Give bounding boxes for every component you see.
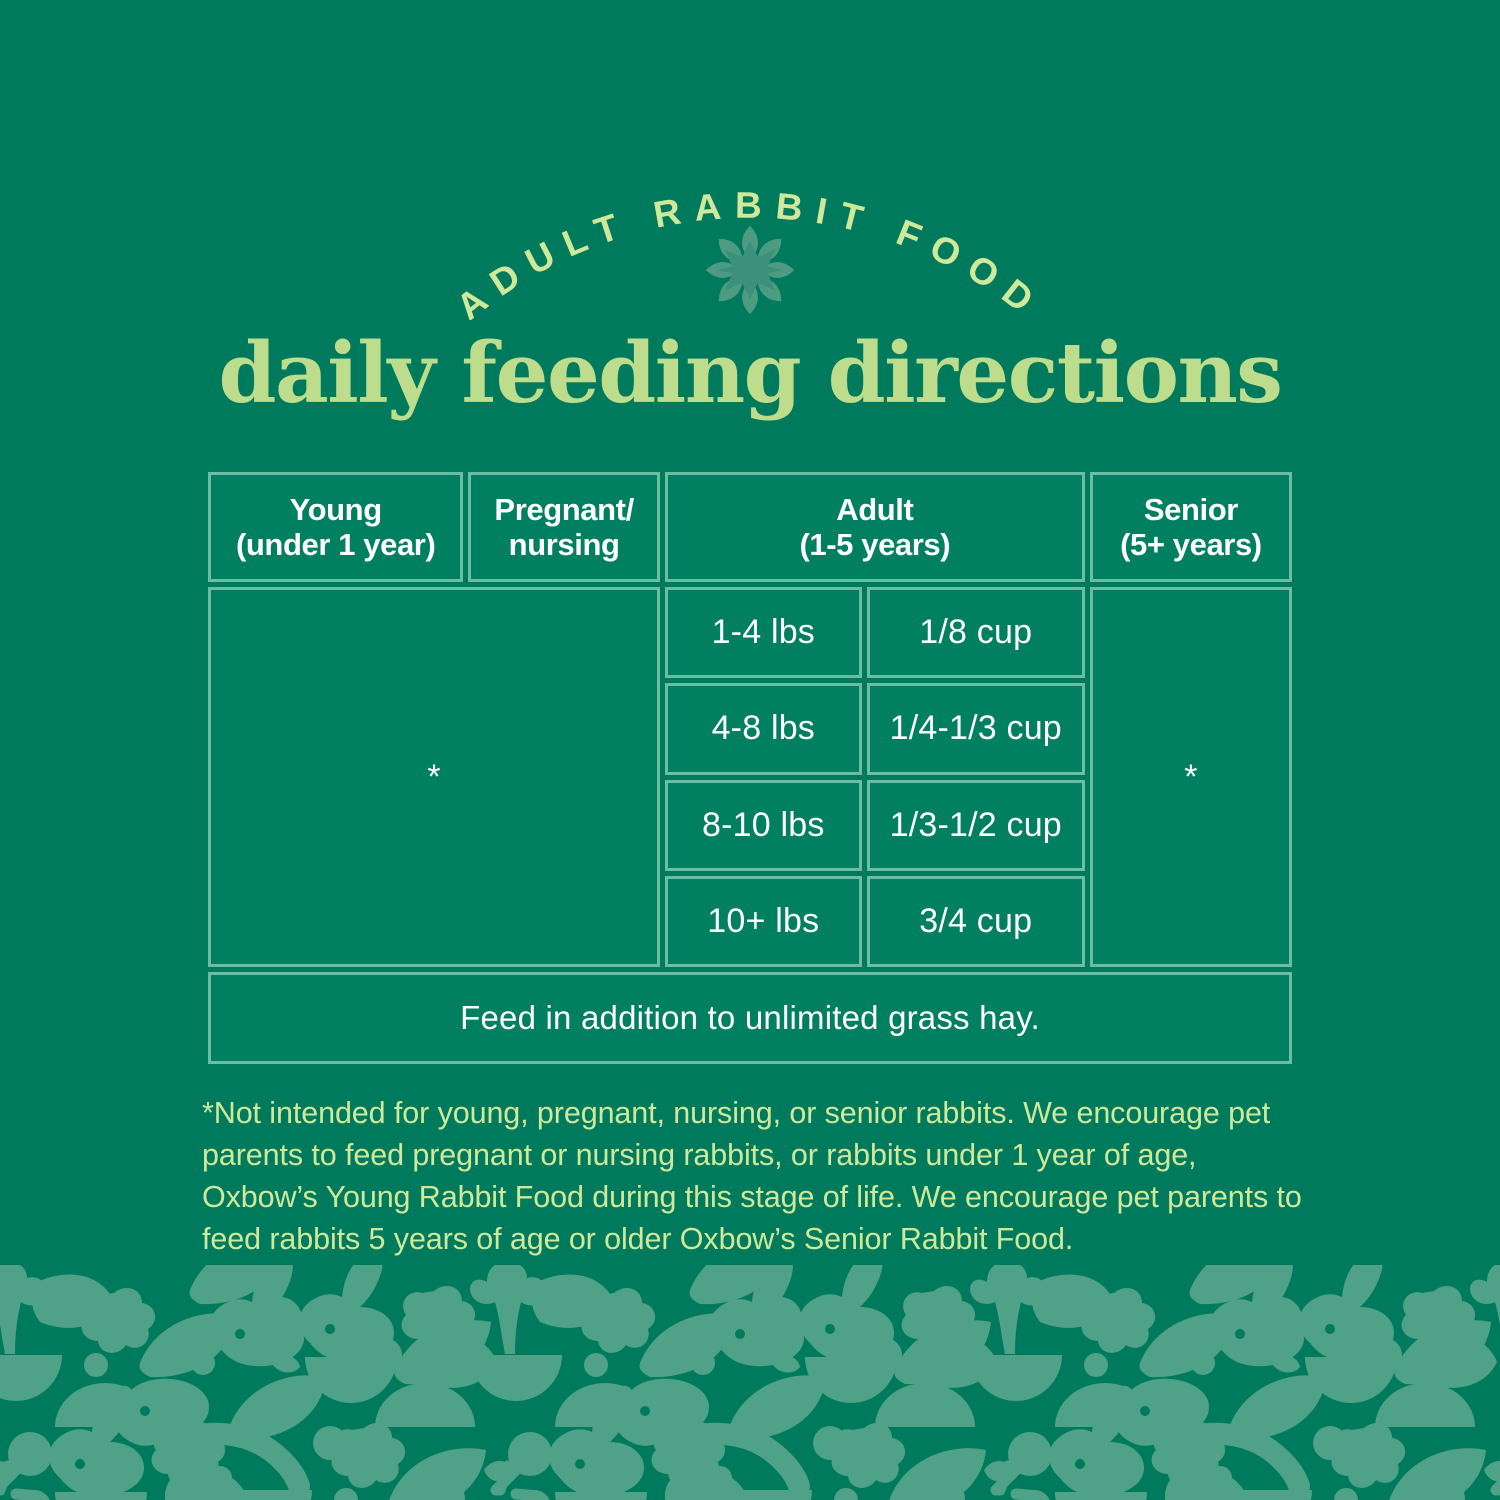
- flower-rosette-icon: [702, 222, 798, 318]
- column-header-senior-subtitle: (5+ years): [1120, 527, 1262, 562]
- column-header-pregnant: Pregnant/ nursing: [468, 472, 660, 582]
- column-header-senior: Senior (5+ years): [1090, 472, 1292, 582]
- adult-amount-2: 1/4-1/3 cup: [867, 683, 1085, 774]
- feeding-directions-table: Young (under 1 year) Pregnant/ nursing A…: [203, 467, 1297, 1069]
- table-row: * 1-4 lbs 1/8 cup *: [208, 587, 1292, 678]
- column-header-young: Young (under 1 year): [208, 472, 463, 582]
- adult-weight-1: 1-4 lbs: [665, 587, 862, 678]
- adult-amount-3: 1/3-1/2 cup: [867, 780, 1085, 871]
- table-header-row: Young (under 1 year) Pregnant/ nursing A…: [208, 472, 1292, 582]
- column-header-adult: Adult (1-5 years): [665, 472, 1085, 582]
- adult-weight-4: 10+ lbs: [665, 876, 862, 967]
- young-pregnant-value: *: [208, 587, 660, 967]
- botanical-pattern-band: [0, 1265, 1500, 1500]
- table-footer-note: Feed in addition to unlimited grass hay.: [208, 972, 1292, 1064]
- page-title: daily feeding directions: [0, 332, 1500, 415]
- adult-amount-4: 3/4 cup: [867, 876, 1085, 967]
- footnote-text: *Not intended for young, pregnant, nursi…: [202, 1092, 1304, 1260]
- table-footer-row: Feed in addition to unlimited grass hay.: [208, 972, 1292, 1064]
- adult-weight-3: 8-10 lbs: [665, 780, 862, 871]
- adult-amount-1: 1/8 cup: [867, 587, 1085, 678]
- column-header-young-title: Young: [290, 492, 382, 527]
- senior-value: *: [1090, 587, 1292, 967]
- column-header-pregnant-title: Pregnant/: [494, 492, 633, 527]
- column-header-pregnant-subtitle: nursing: [509, 527, 620, 562]
- column-header-young-subtitle: (under 1 year): [236, 527, 435, 562]
- column-header-adult-subtitle: (1-5 years): [799, 527, 950, 562]
- column-header-adult-title: Adult: [836, 492, 913, 527]
- column-header-senior-title: Senior: [1144, 492, 1238, 527]
- adult-weight-2: 4-8 lbs: [665, 683, 862, 774]
- packaging-feeding-directions-panel: ADULT RABBIT FOOD: [0, 0, 1500, 1500]
